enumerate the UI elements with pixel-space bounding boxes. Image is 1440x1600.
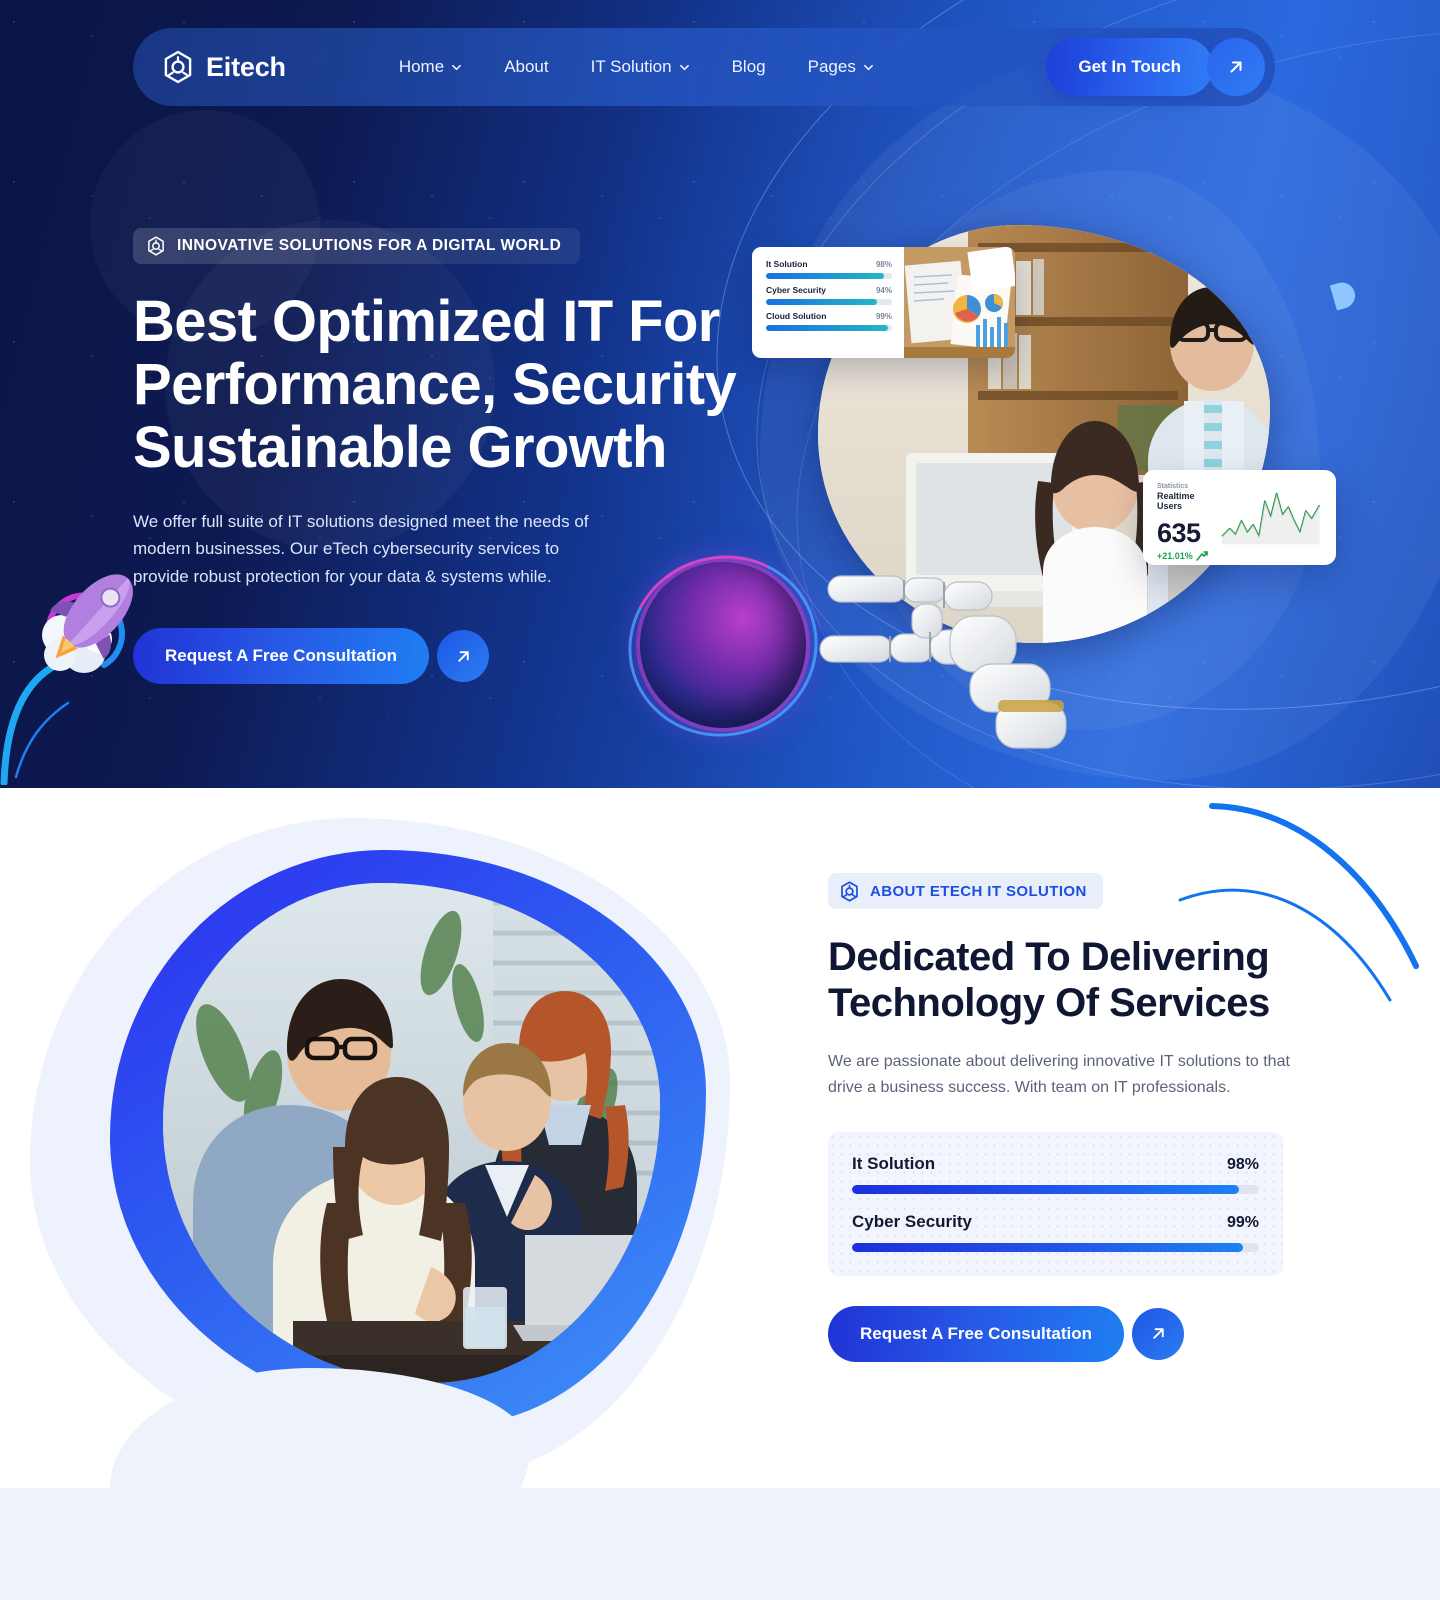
hero-card-thumbnail: [904, 247, 1015, 358]
nav-link-it-solution[interactable]: IT Solution: [591, 57, 690, 77]
skill-fill: [852, 1243, 1243, 1252]
hero-title: Best Optimized IT For Performance, Secur…: [133, 290, 753, 480]
stat-title: Realtime Users: [1157, 491, 1220, 511]
brand-logo[interactable]: Eitech: [161, 50, 286, 84]
hero-skill-fill: [766, 299, 877, 305]
nav-link-label: About: [504, 57, 548, 77]
hero-skill-value: 99%: [876, 312, 892, 321]
hero-skills-card: It Solution 98% Cyber Security 94% Clo: [752, 247, 1015, 358]
hero-title-line-3: Sustainable Growth: [133, 415, 667, 480]
hexagon-logo-icon: [161, 50, 195, 84]
hero-consultation-arrow-button[interactable]: [437, 630, 489, 682]
hexagon-logo-icon: [146, 236, 166, 256]
skill-item: It Solution 98%: [852, 1154, 1259, 1194]
about-request-consultation-button[interactable]: Request A Free Consultation: [828, 1306, 1124, 1362]
chevron-down-icon: [863, 62, 874, 73]
get-in-touch-arrow-button[interactable]: [1207, 38, 1265, 96]
hero-description: We offer full suite of IT solutions desi…: [133, 508, 603, 591]
hero-skill-track: [766, 273, 892, 279]
skill-percent: 99%: [1227, 1214, 1259, 1232]
skill-track: [852, 1185, 1259, 1194]
trend-up-icon: [1196, 551, 1208, 561]
hero-badge-label: INNOVATIVE SOLUTIONS FOR A DIGITAL WORLD: [177, 237, 561, 255]
nav-link-home[interactable]: Home: [399, 57, 462, 77]
stat-delta-value: +21.01%: [1157, 551, 1193, 561]
hero-skill-row: Cyber Security 94%: [766, 285, 892, 305]
sparkline-chart: [1220, 487, 1322, 549]
about-consultation-arrow-button[interactable]: [1132, 1308, 1184, 1360]
hero-title-line-1: Best Optimized IT For: [133, 289, 720, 354]
about-title: Dedicated To Delivering Technology Of Se…: [828, 934, 1298, 1027]
robot-hand-graphic: [800, 560, 1070, 760]
about-title-line-1: Dedicated To Delivering: [828, 935, 1269, 979]
about-content: ABOUT ETECH IT SOLUTION Dedicated To Del…: [828, 873, 1298, 1362]
stat-delta: +21.01%: [1157, 551, 1220, 561]
about-skills-card: It Solution 98% Cyber Security 99%: [828, 1132, 1283, 1276]
realtime-users-card: Statistics Realtime Users 635 +21.01%: [1143, 470, 1336, 565]
stat-eyebrow: Statistics: [1157, 483, 1220, 490]
main-navbar: Eitech Home About IT Solution Blog Pages: [133, 28, 1275, 106]
skill-percent: 98%: [1227, 1156, 1259, 1174]
hero-content: INNOVATIVE SOLUTIONS FOR A DIGITAL WORLD…: [133, 228, 753, 684]
arrow-up-right-icon: [454, 647, 473, 666]
about-title-line-2: Technology Of Services: [828, 981, 1270, 1025]
nav-link-label: Home: [399, 57, 444, 77]
hero-skill-value: 98%: [876, 260, 892, 269]
hero-section: It Solution 98% Cyber Security 94% Clo: [0, 0, 1440, 788]
hero-cta-group: Request A Free Consultation: [133, 628, 753, 684]
stat-number: 635: [1157, 518, 1220, 549]
chevron-down-icon: [679, 62, 690, 73]
hero-title-line-2: Performance, Security: [133, 352, 736, 417]
brand-name: Eitech: [206, 52, 286, 83]
nav-links: Home About IT Solution Blog Pages: [399, 57, 874, 77]
hero-skill-track: [766, 299, 892, 305]
navbar-cta-group: Get In Touch: [1046, 38, 1265, 96]
about-cta-group: Request A Free Consultation: [828, 1306, 1298, 1362]
hero-skill-value: 94%: [876, 286, 892, 295]
about-description: We are passionate about delivering innov…: [828, 1049, 1290, 1101]
arrow-up-right-icon: [1226, 57, 1246, 77]
hero-skill-label: It Solution: [766, 259, 808, 269]
nav-link-label: Pages: [808, 57, 856, 77]
hero-skill-fill: [766, 325, 888, 331]
hero-skill-label: Cyber Security: [766, 285, 826, 295]
bottom-band: [0, 1488, 1440, 1600]
nav-link-blog[interactable]: Blog: [732, 57, 766, 77]
hero-skills-bars: It Solution 98% Cyber Security 94% Clo: [752, 247, 904, 358]
hero-request-consultation-button[interactable]: Request A Free Consultation: [133, 628, 429, 684]
hero-skill-row: Cloud Solution 99%: [766, 311, 892, 331]
hexagon-logo-icon: [839, 881, 860, 902]
get-in-touch-button[interactable]: Get In Touch: [1046, 38, 1213, 96]
skill-track: [852, 1243, 1259, 1252]
about-badge-label: ABOUT ETECH IT SOLUTION: [870, 883, 1087, 900]
nav-link-pages[interactable]: Pages: [808, 57, 874, 77]
hero-skill-row: It Solution 98%: [766, 259, 892, 279]
hero-badge: INNOVATIVE SOLUTIONS FOR A DIGITAL WORLD: [133, 228, 580, 264]
nav-link-label: IT Solution: [591, 57, 672, 77]
hero-skill-label: Cloud Solution: [766, 311, 826, 321]
skill-label: Cyber Security: [852, 1212, 972, 1232]
nav-link-about[interactable]: About: [504, 57, 548, 77]
nav-link-label: Blog: [732, 57, 766, 77]
hero-skill-track: [766, 325, 892, 331]
chevron-down-icon: [451, 62, 462, 73]
hero-skill-fill: [766, 273, 884, 279]
skill-fill: [852, 1185, 1239, 1194]
skill-item: Cyber Security 99%: [852, 1212, 1259, 1252]
about-badge: ABOUT ETECH IT SOLUTION: [828, 873, 1103, 909]
arrow-up-right-icon: [1149, 1324, 1168, 1343]
skill-label: It Solution: [852, 1154, 935, 1174]
